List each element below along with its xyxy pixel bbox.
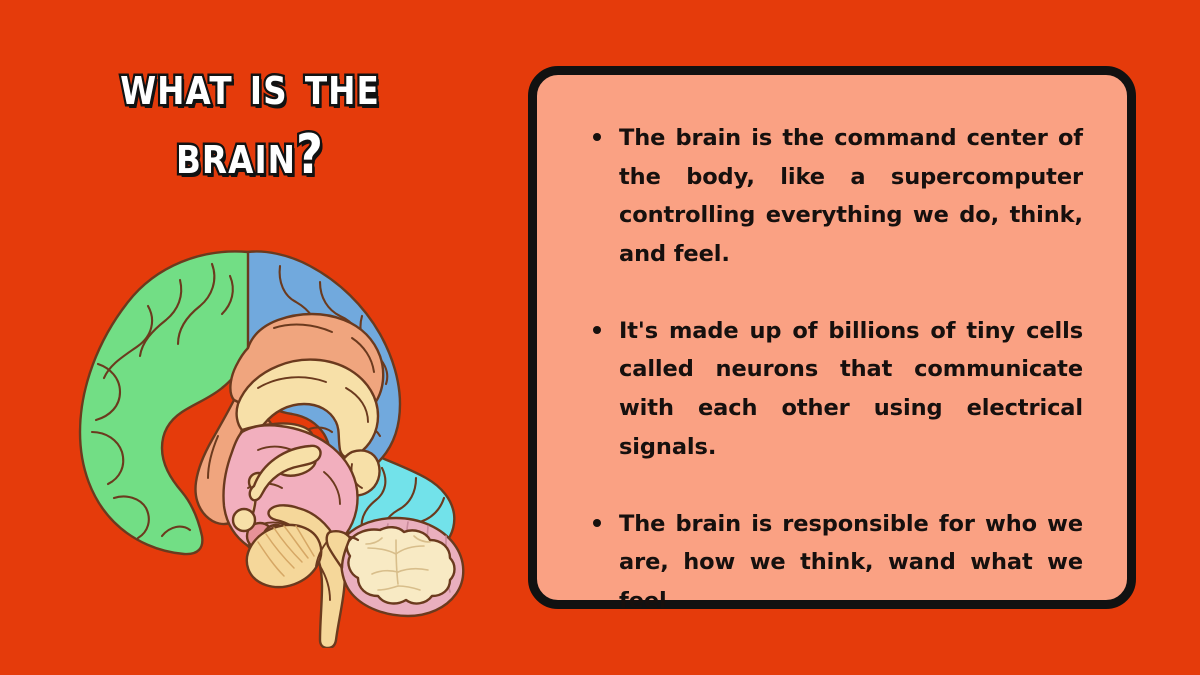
page-title-line-2: Brain? bbox=[35, 125, 465, 184]
bullet-point-icon bbox=[593, 133, 601, 141]
bullet-point-icon bbox=[593, 326, 601, 334]
left-panel: What is the Brain? bbox=[0, 0, 500, 675]
facts-card: The brain is the command center of the b… bbox=[528, 66, 1136, 609]
list-item: The brain is the command center of the b… bbox=[593, 119, 1083, 274]
list-item: The brain is responsible for who we are,… bbox=[593, 505, 1083, 621]
page-title: What is the Brain? bbox=[0, 56, 500, 184]
bullet-point-icon bbox=[593, 519, 601, 527]
page-title-line-1: What is the bbox=[35, 56, 465, 115]
fact-text: It's made up of billions of tiny cells c… bbox=[619, 312, 1083, 467]
list-item: It's made up of billions of tiny cells c… bbox=[593, 312, 1083, 467]
facts-list: The brain is the command center of the b… bbox=[537, 75, 1127, 621]
slide-canvas: What is the Brain? bbox=[0, 0, 1200, 675]
fact-text: The brain is responsible for who we are,… bbox=[619, 505, 1083, 621]
brain-sagittal-diagram bbox=[52, 236, 482, 648]
fact-text: The brain is the command center of the b… bbox=[619, 119, 1083, 274]
